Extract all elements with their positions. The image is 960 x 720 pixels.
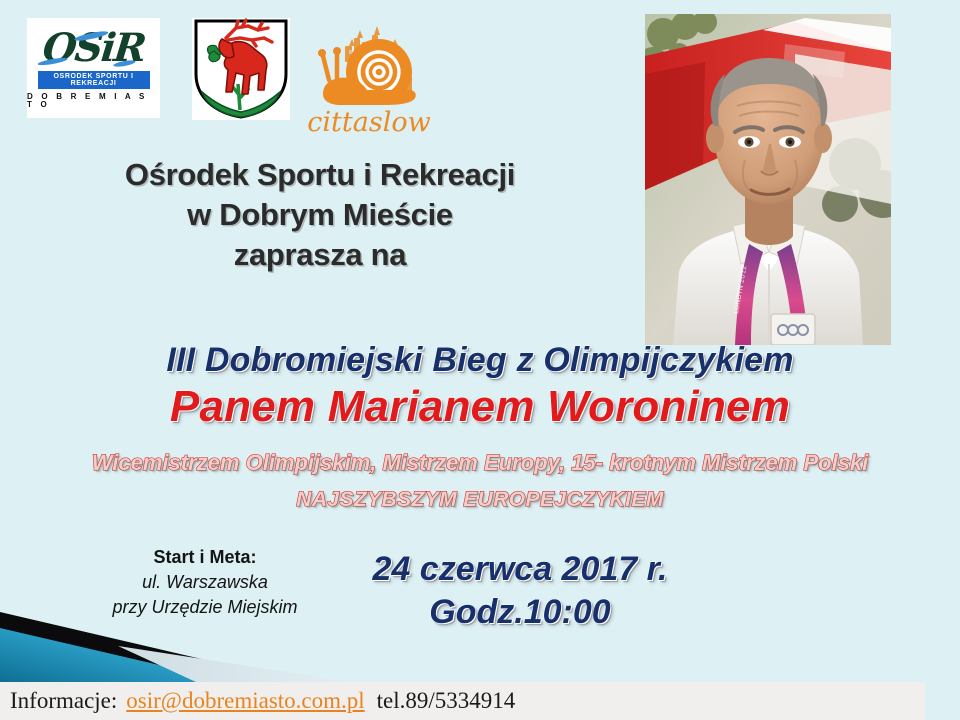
footer-phone: tel.89/5334914 — [377, 688, 516, 714]
footer-content: Informacje: osir@dobremiasto.com.pl tel.… — [0, 688, 515, 714]
footer-label: Informacje: — [10, 688, 117, 714]
osir-subtitle-bar: OSRODEK SPORTU I REKREACJI — [38, 71, 150, 89]
osir-logo: OSiR OSRODEK SPORTU I REKREACJI D O B R … — [27, 18, 160, 118]
organizer-line-2: w Dobrym Mieście — [30, 195, 610, 235]
cittaslow-wordmark: cittaslow — [307, 107, 430, 138]
footer-bar: Informacje: osir@dobremiasto.com.pl tel.… — [0, 682, 925, 720]
event-date: 24 czerwca 2017 r. — [300, 548, 740, 591]
decorative-wedges — [0, 600, 620, 690]
event-title-line-1: III Dobromiejski Bieg z Olimpijczykiem — [0, 343, 960, 377]
poster-canvas: OSiR OSRODEK SPORTU I REKREACJI D O B R … — [0, 0, 960, 720]
footer-email-link[interactable]: osir@dobremiasto.com.pl — [126, 688, 364, 714]
organizer-block: Ośrodek Sportu i Rekreacji w Dobrym Mieś… — [30, 155, 610, 275]
marian-woronin-photo: LONDYN 2012 LONDYN 2012 — [645, 14, 891, 345]
dobre-miasto-coat-of-arms — [192, 18, 290, 120]
logo-row: OSiR OSRODEK SPORTU I REKREACJI D O B R … — [0, 0, 640, 145]
organizer-line-3: zaprasza na — [30, 235, 610, 275]
osir-wordmark: OSiR — [41, 29, 146, 68]
event-title-line-2: Panem Marianem Woroninem — [0, 385, 960, 429]
osir-city-label: D O B R E M I A S T O — [27, 93, 160, 109]
cittaslow-logo: cittaslow — [305, 10, 433, 138]
organizer-line-1: Ośrodek Sportu i Rekreacji — [30, 155, 610, 195]
event-subtitle-line-1: Wicemistrzem Olimpijskim, Mistrzem Europ… — [0, 452, 960, 474]
event-subtitle-line-2: NAJSZYBSZYM EUROPEJCZYKIEM — [0, 489, 960, 510]
